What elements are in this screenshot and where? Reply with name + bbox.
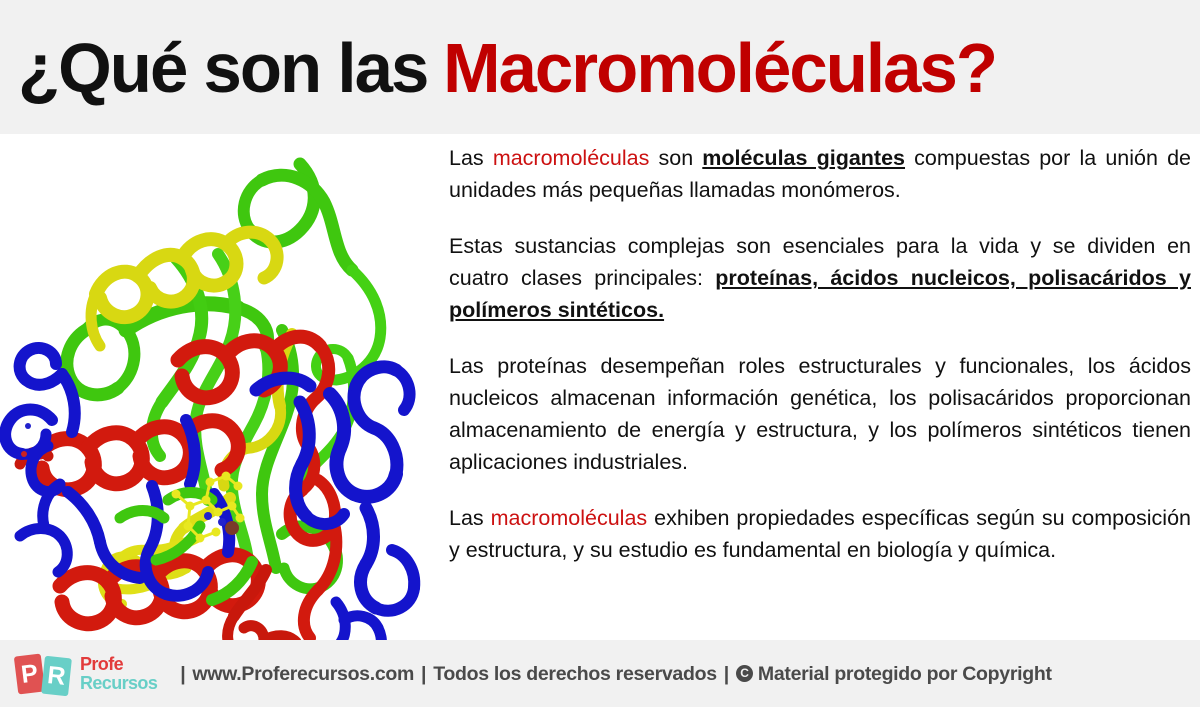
protein-ribbon-illustration <box>0 134 440 640</box>
infographic-page: ¿Qué son las Macromoléculas? <box>0 0 1200 707</box>
protein-ribbon-svg <box>0 134 440 640</box>
page-title-red-part: Macromoléculas? <box>443 29 996 107</box>
footer-separator-2: | <box>414 663 433 685</box>
footer-band: P R Profe Recursos | www.Proferecursos.c… <box>0 640 1200 707</box>
logo-tile-p: P <box>14 653 45 694</box>
proferecursos-logo[interactable]: P R <box>16 651 74 697</box>
logo-word-recursos: Recursos <box>80 674 157 692</box>
paragraph-3: Las proteínas desempeñan roles estructur… <box>449 350 1191 478</box>
logo-word-profe: Profe <box>80 655 157 673</box>
footer-separator-3: | <box>717 663 736 685</box>
footer-separator-1: | <box>173 663 192 685</box>
paragraph-1: Las macromoléculas son moléculas gigante… <box>449 142 1191 206</box>
page-title: ¿Qué son las Macromoléculas? <box>18 20 1170 116</box>
footer-credits: | www.Proferecursos.com | Todos los dere… <box>173 663 1051 685</box>
paragraph-4: Las macromoléculas exhiben propiedades e… <box>449 502 1191 566</box>
header-band: ¿Qué son las Macromoléculas? <box>0 0 1200 134</box>
stray-dot-blue <box>25 423 31 429</box>
stray-dot-red <box>21 451 27 457</box>
footer-copyright-text: Material protegido por Copyright <box>758 663 1052 685</box>
p1-highlight-macromoleculas: macromoléculas <box>493 146 650 170</box>
logo-wordmark: Profe Recursos <box>80 655 157 692</box>
p3-seg1: Las proteínas desempeñan roles estructur… <box>449 354 1191 474</box>
p4-highlight-macromoleculas: macromoléculas <box>491 506 648 530</box>
footer-website[interactable]: www.Proferecursos.com <box>192 663 414 685</box>
p1-emphasis-moleculas-gigantes: moléculas gigantes <box>702 146 905 170</box>
paragraph-2: Estas sustancias complejas son esenciale… <box>449 230 1191 326</box>
page-title-black-part: ¿Qué son las <box>18 29 427 107</box>
body-text-column: Las macromoléculas son moléculas gigante… <box>449 142 1191 638</box>
p4-seg1: Las <box>449 506 491 530</box>
p1-seg2: son <box>649 146 702 170</box>
p1-seg1: Las <box>449 146 493 170</box>
copyright-icon: C <box>736 665 753 682</box>
logo-tile-r: R <box>41 655 72 696</box>
footer-rights: Todos los derechos reservados <box>433 663 717 685</box>
